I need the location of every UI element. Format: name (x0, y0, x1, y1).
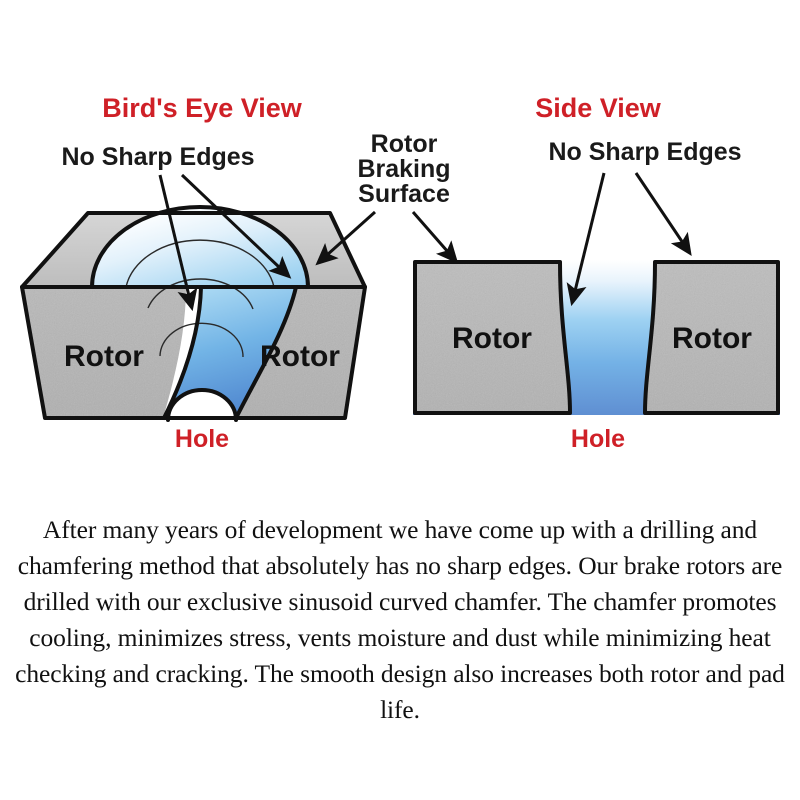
right-diagram-title: Side View (535, 93, 662, 123)
rotor-label-left-side: Rotor (452, 322, 532, 355)
birds-eye-block: Rotor Rotor (22, 207, 365, 420)
body-paragraph: After many years of development we have … (0, 512, 800, 728)
diagram-area: Bird's Eye View (0, 0, 800, 490)
no-sharp-edges-label-right: No Sharp Edges (548, 138, 741, 166)
hole-label-right: Hole (571, 425, 625, 453)
no-sharp-edges-label-left: No Sharp Edges (61, 143, 254, 171)
rotor-label-right: Rotor (260, 340, 340, 373)
diagram-page: Bird's Eye View (0, 0, 800, 800)
left-diagram-group: Bird's Eye View (22, 93, 451, 453)
right-diagram-group: Side View Rotor Rotor No Sharp Edges (413, 93, 780, 453)
rotor-label-right-side: Rotor (672, 322, 752, 355)
side-view-block: Rotor Rotor (413, 260, 780, 415)
rotor-braking-surface-line-2: Braking (357, 155, 450, 183)
hole-label-left: Hole (175, 425, 229, 453)
rotor-label-left: Rotor (64, 340, 144, 373)
rotor-braking-surface-line-3: Surface (358, 180, 450, 208)
rotor-chamfer-illustration: Bird's Eye View (0, 0, 800, 490)
rotor-braking-surface-label: Rotor Braking Surface (357, 130, 450, 208)
rotor-braking-surface-line-1: Rotor (371, 130, 438, 158)
left-diagram-title: Bird's Eye View (102, 93, 303, 123)
